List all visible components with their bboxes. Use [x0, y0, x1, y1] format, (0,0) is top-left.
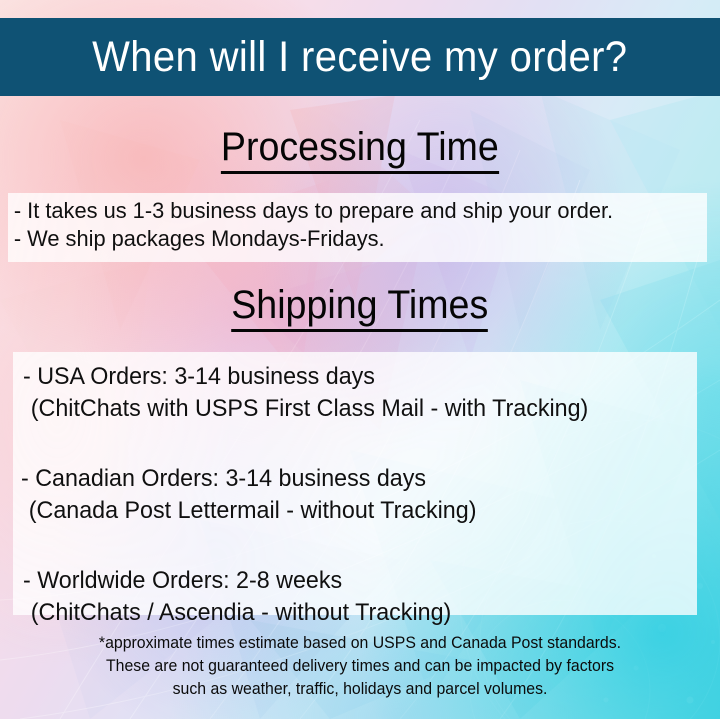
worldwide-orders-line: - Worldwide Orders: 2-8 weeks — [23, 565, 677, 597]
poster-title: When will I receive my order? — [92, 33, 627, 82]
shipping-block-worldwide: - Worldwide Orders: 2-8 weeks (ChitChats… — [13, 527, 697, 629]
usa-orders-line: - USA Orders: 3-14 business days — [23, 361, 677, 393]
shipping-times-heading: Shipping Times — [0, 283, 720, 332]
shipping-times-heading-text: Shipping Times — [231, 283, 488, 332]
disclaimer: *approximate times estimate based on USP… — [0, 632, 720, 701]
processing-time-panel: - It takes us 1-3 business days to prepa… — [8, 193, 707, 262]
usa-carrier-line: (ChitChats with USPS First Class Mail - … — [23, 393, 677, 425]
shipping-info-poster: When will I receive my order? Processing… — [0, 0, 720, 719]
worldwide-carrier-line: (ChitChats / Ascendia - without Tracking… — [23, 597, 677, 629]
canada-carrier-line: (Canada Post Lettermail - without Tracki… — [21, 495, 677, 527]
disclaimer-line-3: such as weather, traffic, holidays and p… — [14, 678, 705, 701]
disclaimer-line-1: *approximate times estimate based on USP… — [14, 632, 705, 655]
shipping-block-canada: - Canadian Orders: 3-14 business days (C… — [13, 425, 697, 527]
canada-orders-line: - Canadian Orders: 3-14 business days — [21, 463, 677, 495]
disclaimer-line-2: These are not guaranteed delivery times … — [14, 655, 705, 678]
processing-time-heading: Processing Time — [0, 125, 720, 174]
processing-line-2: - We ship packages Mondays-Fridays. — [8, 225, 686, 253]
header-banner: When will I receive my order? — [0, 18, 720, 96]
processing-time-heading-text: Processing Time — [221, 125, 499, 174]
processing-line-1: - It takes us 1-3 business days to prepa… — [8, 197, 686, 225]
shipping-block-usa: - USA Orders: 3-14 business days (ChitCh… — [13, 352, 697, 425]
shipping-times-panel: - USA Orders: 3-14 business days (ChitCh… — [13, 352, 697, 615]
